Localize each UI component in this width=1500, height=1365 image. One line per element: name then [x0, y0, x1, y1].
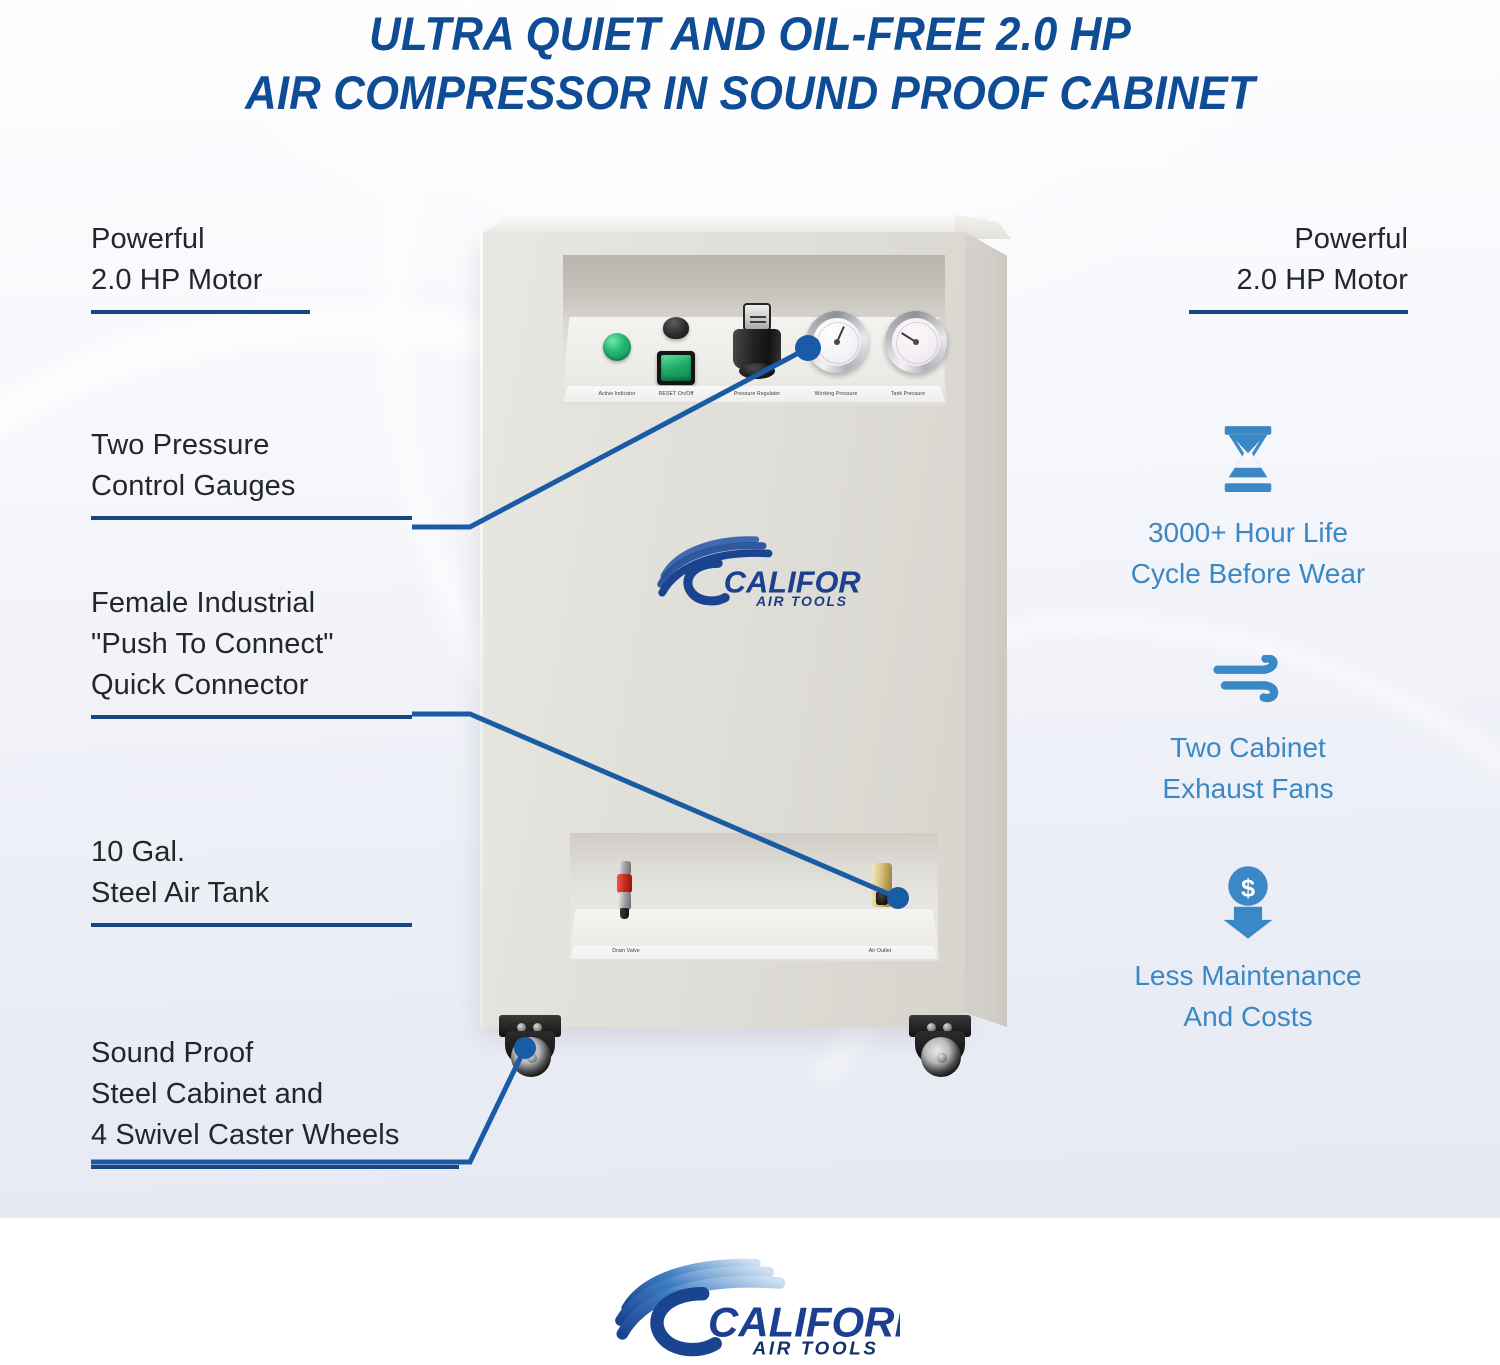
quick-connector-air-outlet[interactable]	[872, 863, 892, 921]
feature-line: And Costs	[1088, 996, 1408, 1037]
pressure-regulator-knob[interactable]	[733, 303, 781, 387]
page-title: ULTRA QUIET AND OIL-FREE 2.0 HP AIR COMP…	[53, 4, 1448, 122]
feature-line: Two Cabinet	[1088, 727, 1408, 768]
feature-line: 3000+ Hour Life	[1088, 512, 1408, 553]
reset-button[interactable]	[663, 317, 689, 339]
callout-rule	[91, 516, 412, 520]
callout-line: Steel Air Tank	[91, 877, 269, 909]
callout-rule	[91, 1165, 459, 1169]
cabinet-side-face	[965, 232, 1007, 1027]
panel-label-air-outlet: Air Outlet	[844, 948, 916, 954]
active-indicator-lamp	[603, 333, 631, 361]
panel-label-working-pressure: Working Pressure	[795, 391, 877, 397]
working-pressure-gauge	[806, 311, 868, 373]
wind-icon	[1088, 655, 1408, 711]
feature-life-cycle: 3000+ Hour Life Cycle Before Wear	[1088, 424, 1408, 594]
callout-quick-connector: Female Industrial "Push To Connect" Quic…	[91, 583, 412, 719]
callout-line: 2.0 HP Motor	[91, 264, 263, 296]
callout-line: 4 Swivel Caster Wheels	[91, 1119, 399, 1151]
feature-line: Cycle Before Wear	[1088, 553, 1408, 594]
panel-label-pressure-regulator: Pressure Regulator	[715, 391, 799, 397]
callout-powerful-motor-right: Powerful 2.0 HP Motor	[1189, 219, 1408, 314]
feature-less-maintenance: $ Less Maintenance And Costs	[1088, 865, 1408, 1037]
tank-pressure-gauge	[885, 311, 947, 373]
panel-label-active-indicator: Active Indicator	[581, 391, 653, 397]
caster-wheel-front-right	[905, 1015, 975, 1077]
callout-line: Powerful	[91, 223, 205, 255]
callout-line: Powerful	[1294, 223, 1408, 255]
callout-rule	[91, 715, 412, 719]
dollar-down-arrow-icon: $	[1088, 865, 1408, 939]
title-line-2: AIR COMPRESSOR IN SOUND PROOF CABINET	[53, 63, 1448, 122]
callout-steel-air-tank: 10 Gal. Steel Air Tank	[91, 832, 412, 927]
cabinet-left-edge-highlight	[480, 232, 483, 1027]
feature-line: Exhaust Fans	[1088, 768, 1408, 809]
callout-line: Sound Proof	[91, 1037, 253, 1069]
callout-rule	[91, 310, 310, 314]
panel-label-tank-pressure: Tank Pressure	[875, 391, 941, 397]
cabinet-brand-logo: CALIFORNIA AIR TOOLS	[651, 532, 861, 610]
control-panel-label-strip: Active Indicator RESET On/Off Pressure R…	[563, 386, 945, 402]
power-rocker-switch[interactable]	[657, 351, 695, 385]
caster-wheel-front-left	[495, 1015, 565, 1077]
drain-valve[interactable]	[616, 861, 633, 923]
callout-line: Control Gauges	[91, 470, 296, 502]
panel-label-drain-valve: Drain Valve	[588, 948, 664, 954]
callout-pressure-gauges: Two Pressure Control Gauges	[91, 425, 412, 520]
hourglass-icon	[1088, 424, 1408, 496]
product-image-compressor: Active Indicator RESET On/Off Pressure R…	[455, 215, 1025, 1045]
footer-logo-tagline: AIR TOOLS	[752, 1337, 879, 1358]
cabinet-logo-tagline: AIR TOOLS	[755, 593, 848, 609]
svg-text:$: $	[1241, 874, 1255, 902]
callout-line: 2.0 HP Motor	[1236, 264, 1408, 296]
feature-line: Less Maintenance	[1088, 955, 1408, 996]
callout-line: Steel Cabinet and	[91, 1078, 323, 1110]
panel-label-reset-switch: RESET On/Off	[645, 391, 707, 397]
callout-rule	[91, 923, 412, 927]
callout-powerful-motor-left: Powerful 2.0 HP Motor	[91, 219, 310, 314]
callout-line: Quick Connector	[91, 669, 309, 701]
control-panel-recess: Active Indicator RESET On/Off Pressure R…	[563, 255, 945, 405]
callout-line: Female Industrial	[91, 587, 315, 619]
infographic-page: ULTRA QUIET AND OIL-FREE 2.0 HP AIR COMP…	[0, 0, 1500, 1365]
callout-rule	[1189, 310, 1408, 314]
outlet-panel-recess: Drain Valve Air Outlet	[570, 833, 938, 961]
callout-sound-proof-cabinet: Sound Proof Steel Cabinet and 4 Swivel C…	[91, 1033, 459, 1169]
callout-line: "Push To Connect"	[91, 628, 334, 660]
title-line-1: ULTRA QUIET AND OIL-FREE 2.0 HP	[369, 7, 1131, 60]
outlet-panel-label-strip: Drain Valve Air Outlet	[570, 946, 938, 959]
feature-exhaust-fans: Two Cabinet Exhaust Fans	[1088, 655, 1408, 809]
footer-brand-logo: CALIFORNIA AIR TOOLS	[600, 1258, 900, 1358]
callout-line: Two Pressure	[91, 429, 270, 461]
callout-line: 10 Gal.	[91, 836, 185, 868]
